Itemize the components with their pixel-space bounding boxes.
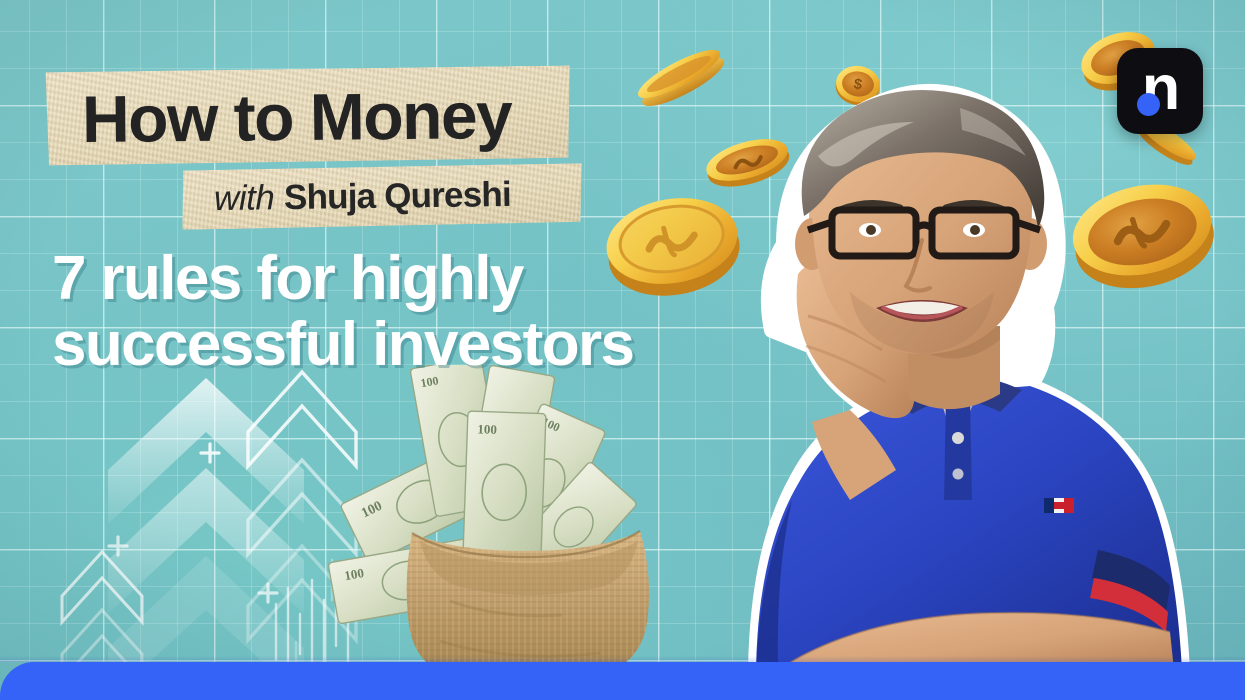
shirt-flag-logo	[1044, 498, 1074, 513]
burlap-money-bag: 100 100 100 100 100	[300, 365, 700, 675]
host-credit: with Shuja Qureshi	[214, 168, 512, 226]
video-thumbnail: $	[0, 0, 1245, 700]
show-title: How to Money	[82, 72, 512, 162]
logo-dot-icon	[1137, 93, 1160, 116]
svg-text:100: 100	[477, 421, 497, 437]
headline: 7 rules for highly successful investors	[52, 246, 692, 378]
burlap-sack	[407, 531, 649, 675]
brand-logo[interactable]: n	[1117, 48, 1203, 134]
headline-line-1: 7 rules for highly	[52, 246, 692, 312]
headline-line-2: successful investors	[52, 312, 692, 378]
logo-letter: n	[1117, 56, 1203, 120]
host-name: Shuja Qureshi	[284, 175, 511, 217]
host-prefix: with	[214, 178, 275, 218]
bottom-accent-band	[0, 662, 1245, 700]
